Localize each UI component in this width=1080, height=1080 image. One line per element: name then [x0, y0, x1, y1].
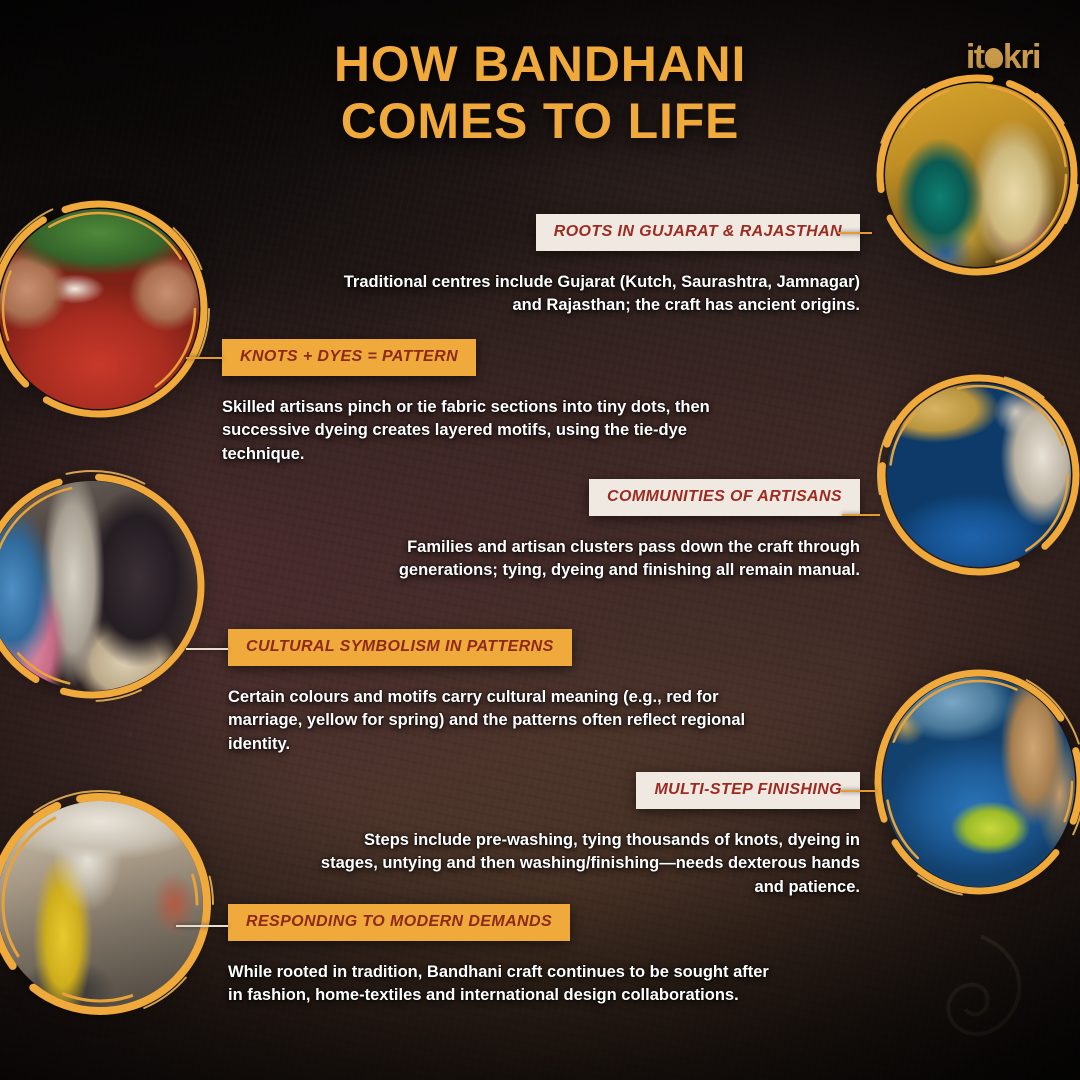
- section-heading-symbolism: CULTURAL SYMBOLISM IN PATTERNS: [228, 629, 572, 666]
- photo-disc: [0, 481, 197, 691]
- connector-modern: [176, 925, 228, 927]
- photo-artisan-yellow-hank: [0, 790, 214, 1018]
- photo-women-seated-craft: [0, 470, 208, 702]
- section-symbolism: CULTURAL SYMBOLISM IN PATTERNS Certain c…: [228, 629, 808, 756]
- section-body-symbolism: Certain colours and motifs carry cultura…: [228, 686, 768, 756]
- section-body-modern: While rooted in tradition, Bandhani craf…: [228, 961, 776, 1008]
- section-body-knots: Skilled artisans pinch or tie fabric sec…: [222, 396, 752, 466]
- section-finishing: MULTI-STEP FINISHING Steps include pre-w…: [320, 772, 860, 899]
- photo-disc: [0, 801, 203, 1007]
- section-roots: ROOTS IN GUJARAT & RAJASTHAN Traditional…: [300, 214, 860, 318]
- section-body-communities: Families and artisan clusters pass down …: [300, 536, 860, 583]
- photo-image: [0, 209, 199, 409]
- connector-communities: [842, 514, 880, 516]
- photo-image: [883, 677, 1075, 887]
- section-heading-communities: COMMUNITIES OF ARTISANS: [589, 479, 860, 516]
- section-heading-roots: ROOTS IN GUJARAT & RAJASTHAN: [536, 214, 860, 251]
- section-body-finishing: Steps include pre-washing, tying thousan…: [320, 829, 860, 899]
- section-knots: KNOTS + DYES = PATTERN Skilled artisans …: [222, 339, 782, 466]
- photo-disc: [885, 83, 1069, 267]
- section-heading-finishing: MULTI-STEP FINISHING: [636, 772, 860, 809]
- logo-text-o: o: [984, 38, 1003, 76]
- section-heading-knots: KNOTS + DYES = PATTERN: [222, 339, 476, 376]
- section-body-roots: Traditional centres include Gujarat (Kut…: [300, 271, 860, 318]
- photo-image: [0, 481, 197, 691]
- photo-image: [887, 383, 1071, 567]
- section-heading-modern: RESPONDING TO MODERN DEMANDS: [228, 904, 570, 941]
- photo-hands-red-knots: [0, 198, 210, 420]
- photo-women-tying-yellow: [874, 72, 1080, 278]
- logo-o-mark-icon: o: [984, 38, 1003, 77]
- photo-disc: [883, 677, 1075, 887]
- photo-image: [0, 801, 203, 1007]
- photo-blue-dye-vat: [872, 666, 1080, 898]
- connector-finishing: [840, 790, 876, 792]
- infographic-poster: HOW BANDHANI COMES TO LIFE itokri: [0, 0, 1080, 1080]
- photo-image: [885, 83, 1069, 267]
- connector-symbolism: [186, 648, 228, 650]
- photo-disc: [0, 209, 199, 409]
- logo-text-post: kri: [1003, 38, 1040, 76]
- section-modern: RESPONDING TO MODERN DEMANDS While roote…: [228, 904, 808, 1008]
- connector-knots: [186, 357, 222, 359]
- section-communities: COMMUNITIES OF ARTISANS Families and art…: [300, 479, 860, 583]
- photo-disc: [887, 383, 1071, 567]
- photo-dyer-blue-tub: [876, 372, 1080, 578]
- connector-roots: [838, 232, 872, 234]
- logo-text-pre: it: [966, 38, 984, 76]
